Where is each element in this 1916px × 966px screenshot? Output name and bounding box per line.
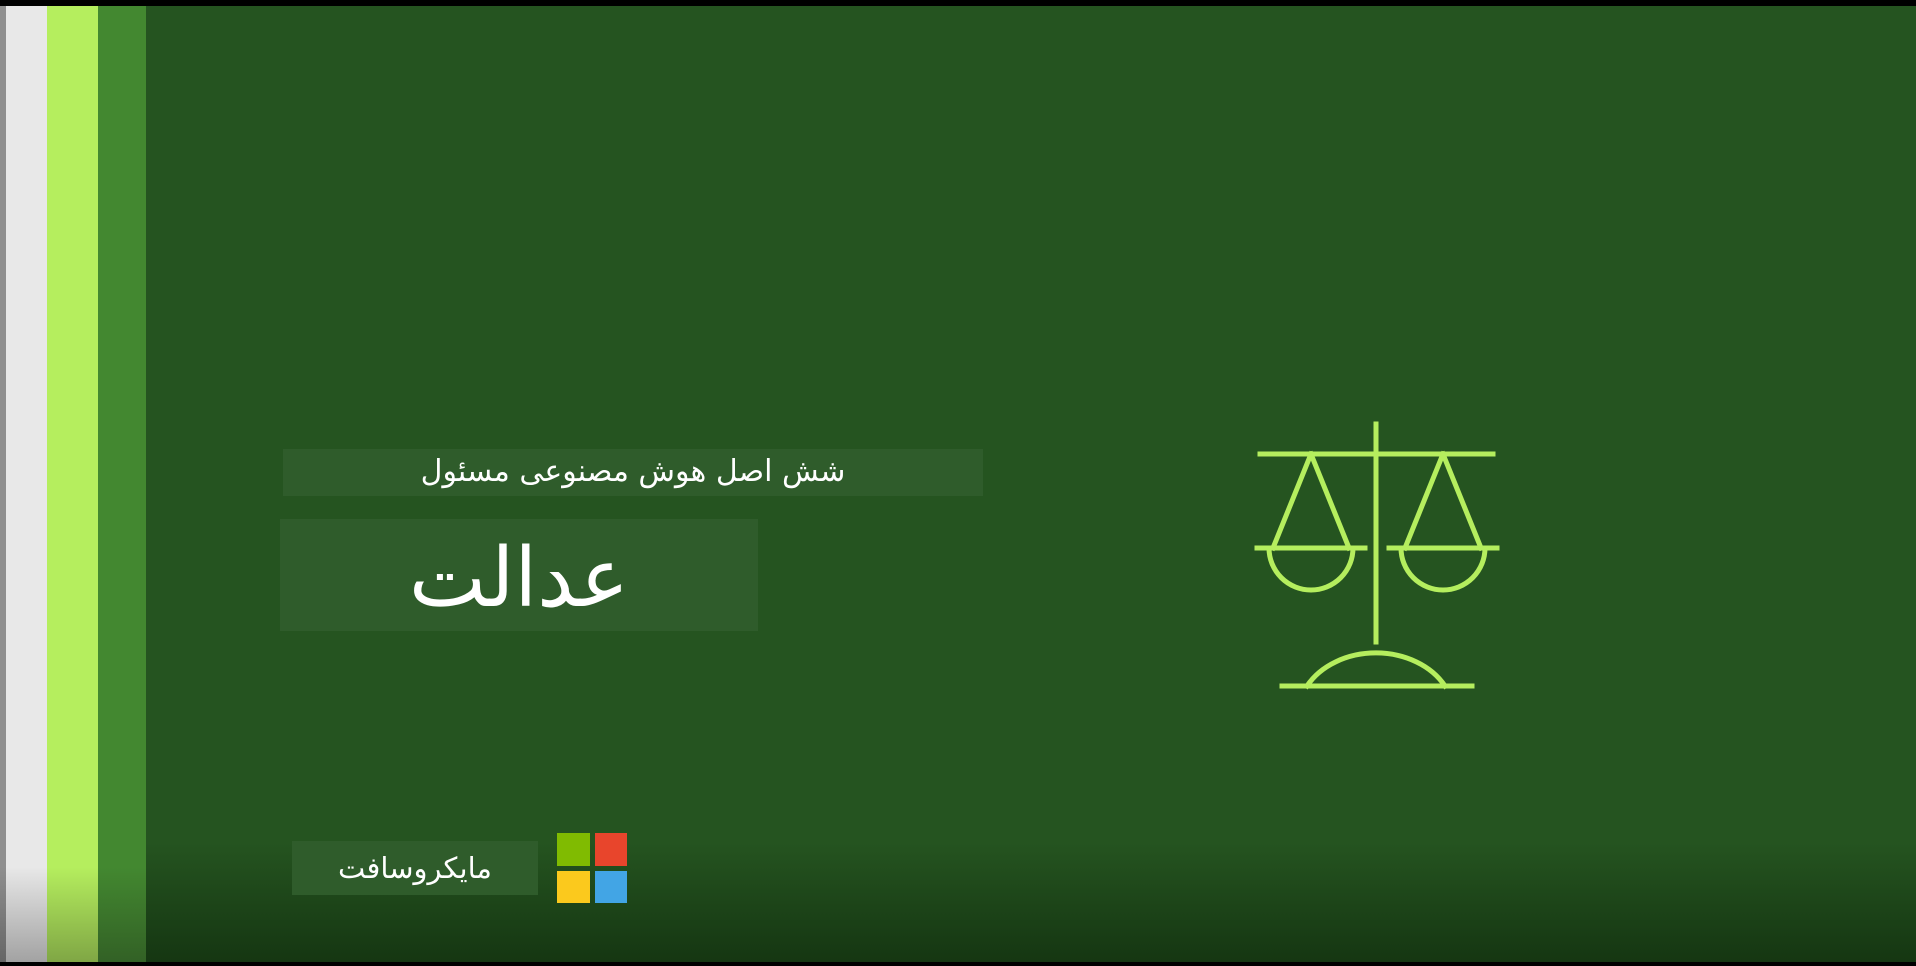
- ms-logo-blue-tile: [595, 871, 628, 904]
- slide-stage: شش اصل هوش مصنوعی مسئول عدالت: [0, 0, 1916, 966]
- bottom-vignette: [0, 842, 1916, 962]
- letterbox-bottom: [0, 962, 1916, 966]
- stripe-green: [98, 6, 146, 962]
- slide-subtitle: شش اصل هوش مصنوعی مسئول: [283, 443, 983, 501]
- ms-logo-green-tile: [557, 833, 590, 866]
- slide-canvas: شش اصل هوش مصنوعی مسئول عدالت: [0, 6, 1916, 962]
- footer-brand-row: مایکروسافت: [292, 826, 627, 910]
- letterbox-top: [0, 0, 1916, 6]
- left-accent-stripes: [0, 6, 146, 962]
- brand-name-label: مایکروسافت: [338, 841, 492, 895]
- microsoft-logo-icon: [557, 833, 627, 903]
- brand-name-highlight-box: مایکروسافت: [292, 841, 538, 895]
- slide-title: عدالت: [280, 517, 758, 635]
- stripe-bottom-shade: [0, 867, 146, 962]
- stripe-lime: [47, 6, 98, 962]
- stripe-white: [6, 6, 47, 962]
- ms-logo-red-tile: [595, 833, 628, 866]
- ms-logo-yellow-tile: [557, 871, 590, 904]
- balance-scales-icon: [1225, 396, 1525, 696]
